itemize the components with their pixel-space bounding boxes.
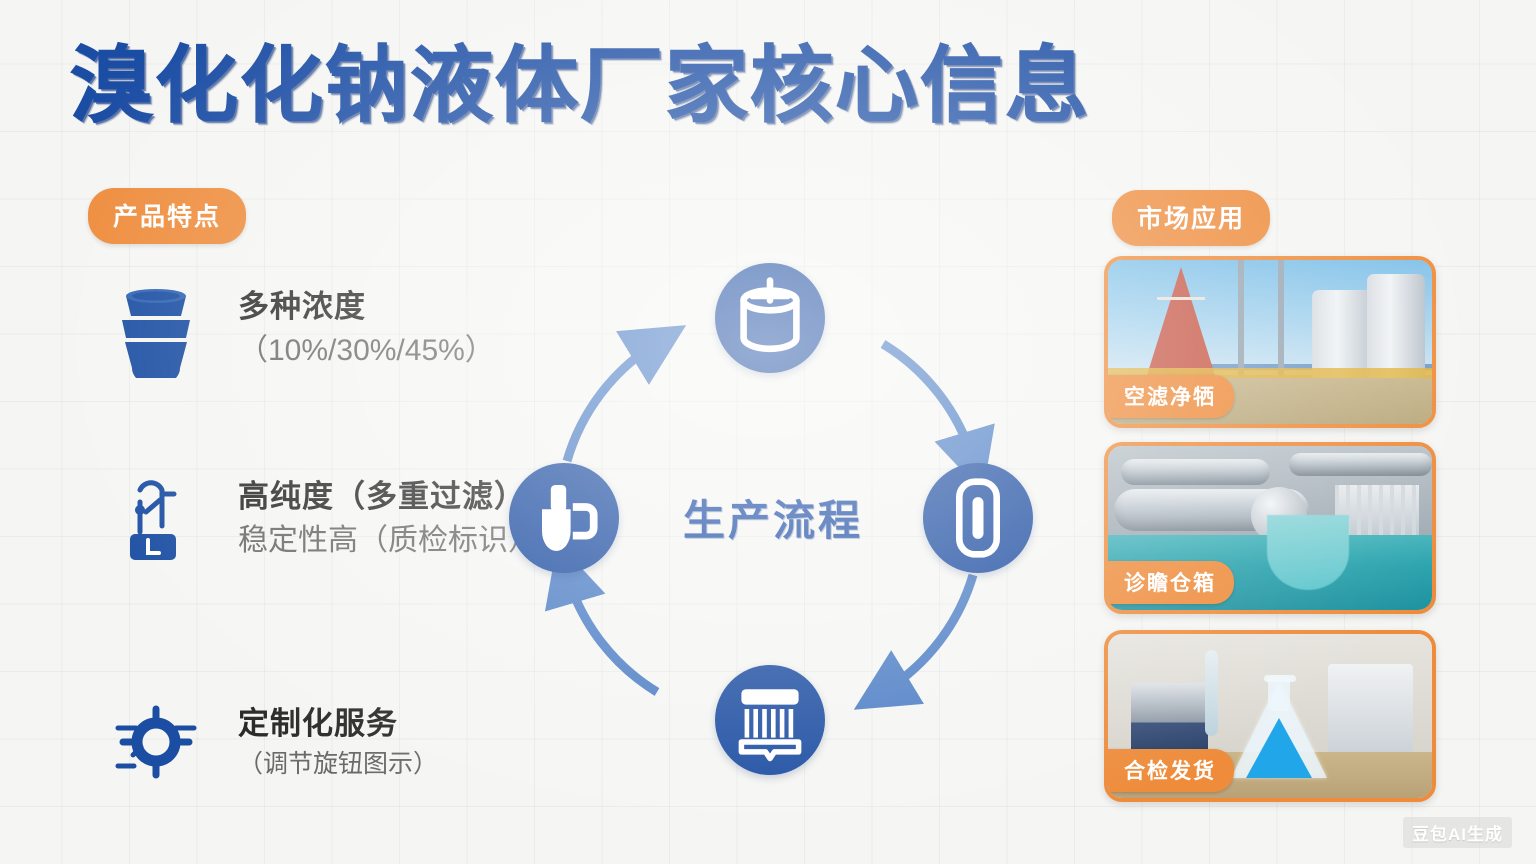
bucket-icon [100,272,212,384]
section-badge-market: 市场应用 [1112,190,1270,246]
knob-icon [100,686,212,798]
market-card[interactable]: 空滤净牺 [1104,256,1436,428]
feature-text: 高纯度（多重过滤） 稳定性高（质检标识） [238,476,538,560]
section-badge-features: 产品特点 [88,188,246,244]
cycle-node-reactor[interactable] [715,263,825,373]
feature-title: 高纯度（多重过滤） [238,478,538,517]
cycle-center-label: 生产流程 [667,487,879,548]
market-card-label: 诊瞻仓箱 [1104,561,1234,604]
feature-title: 定制化服务 [238,705,438,744]
market-card-label: 合检发货 [1104,749,1234,792]
feature-subtitle: （10%/30%/45%） [238,331,495,370]
market-card-label: 空滤净牺 [1104,375,1234,418]
feature-item: 多种浓度 （10%/30%/45%） [100,272,495,384]
cycle-node-pump[interactable] [509,463,619,573]
market-card[interactable]: 诊瞻仓箱 [1104,442,1436,614]
feature-item: 高纯度（多重过滤） 稳定性高（质检标识） [100,462,538,574]
feature-item: 定制化服务 （调节旋钮图示） [100,686,438,798]
ai-watermark: 豆包AI生成 [1403,817,1512,848]
feature-text: 多种浓度 （10%/30%/45%） [238,286,495,370]
market-card[interactable]: 合检发货 [1104,630,1436,802]
page-title: 溴化化钠液体厂家核心信息 [70,44,1090,127]
feature-title: 多种浓度 [238,288,495,327]
production-cycle-diagram: 生产流程 [505,255,1035,780]
feature-subtitle: （调节旋钮图示） [238,748,438,781]
feature-text: 定制化服务 （调节旋钮图示） [238,703,438,780]
filter-lab-icon [100,462,212,574]
cycle-node-filter[interactable] [715,665,825,775]
feature-subtitle: 稳定性高（质检标识） [238,521,538,560]
cycle-node-storage-column[interactable] [923,463,1033,573]
poster-canvas: 溴化化钠液体厂家核心信息 产品特点 多种浓度 （10%/30%/45%） [0,0,1536,864]
